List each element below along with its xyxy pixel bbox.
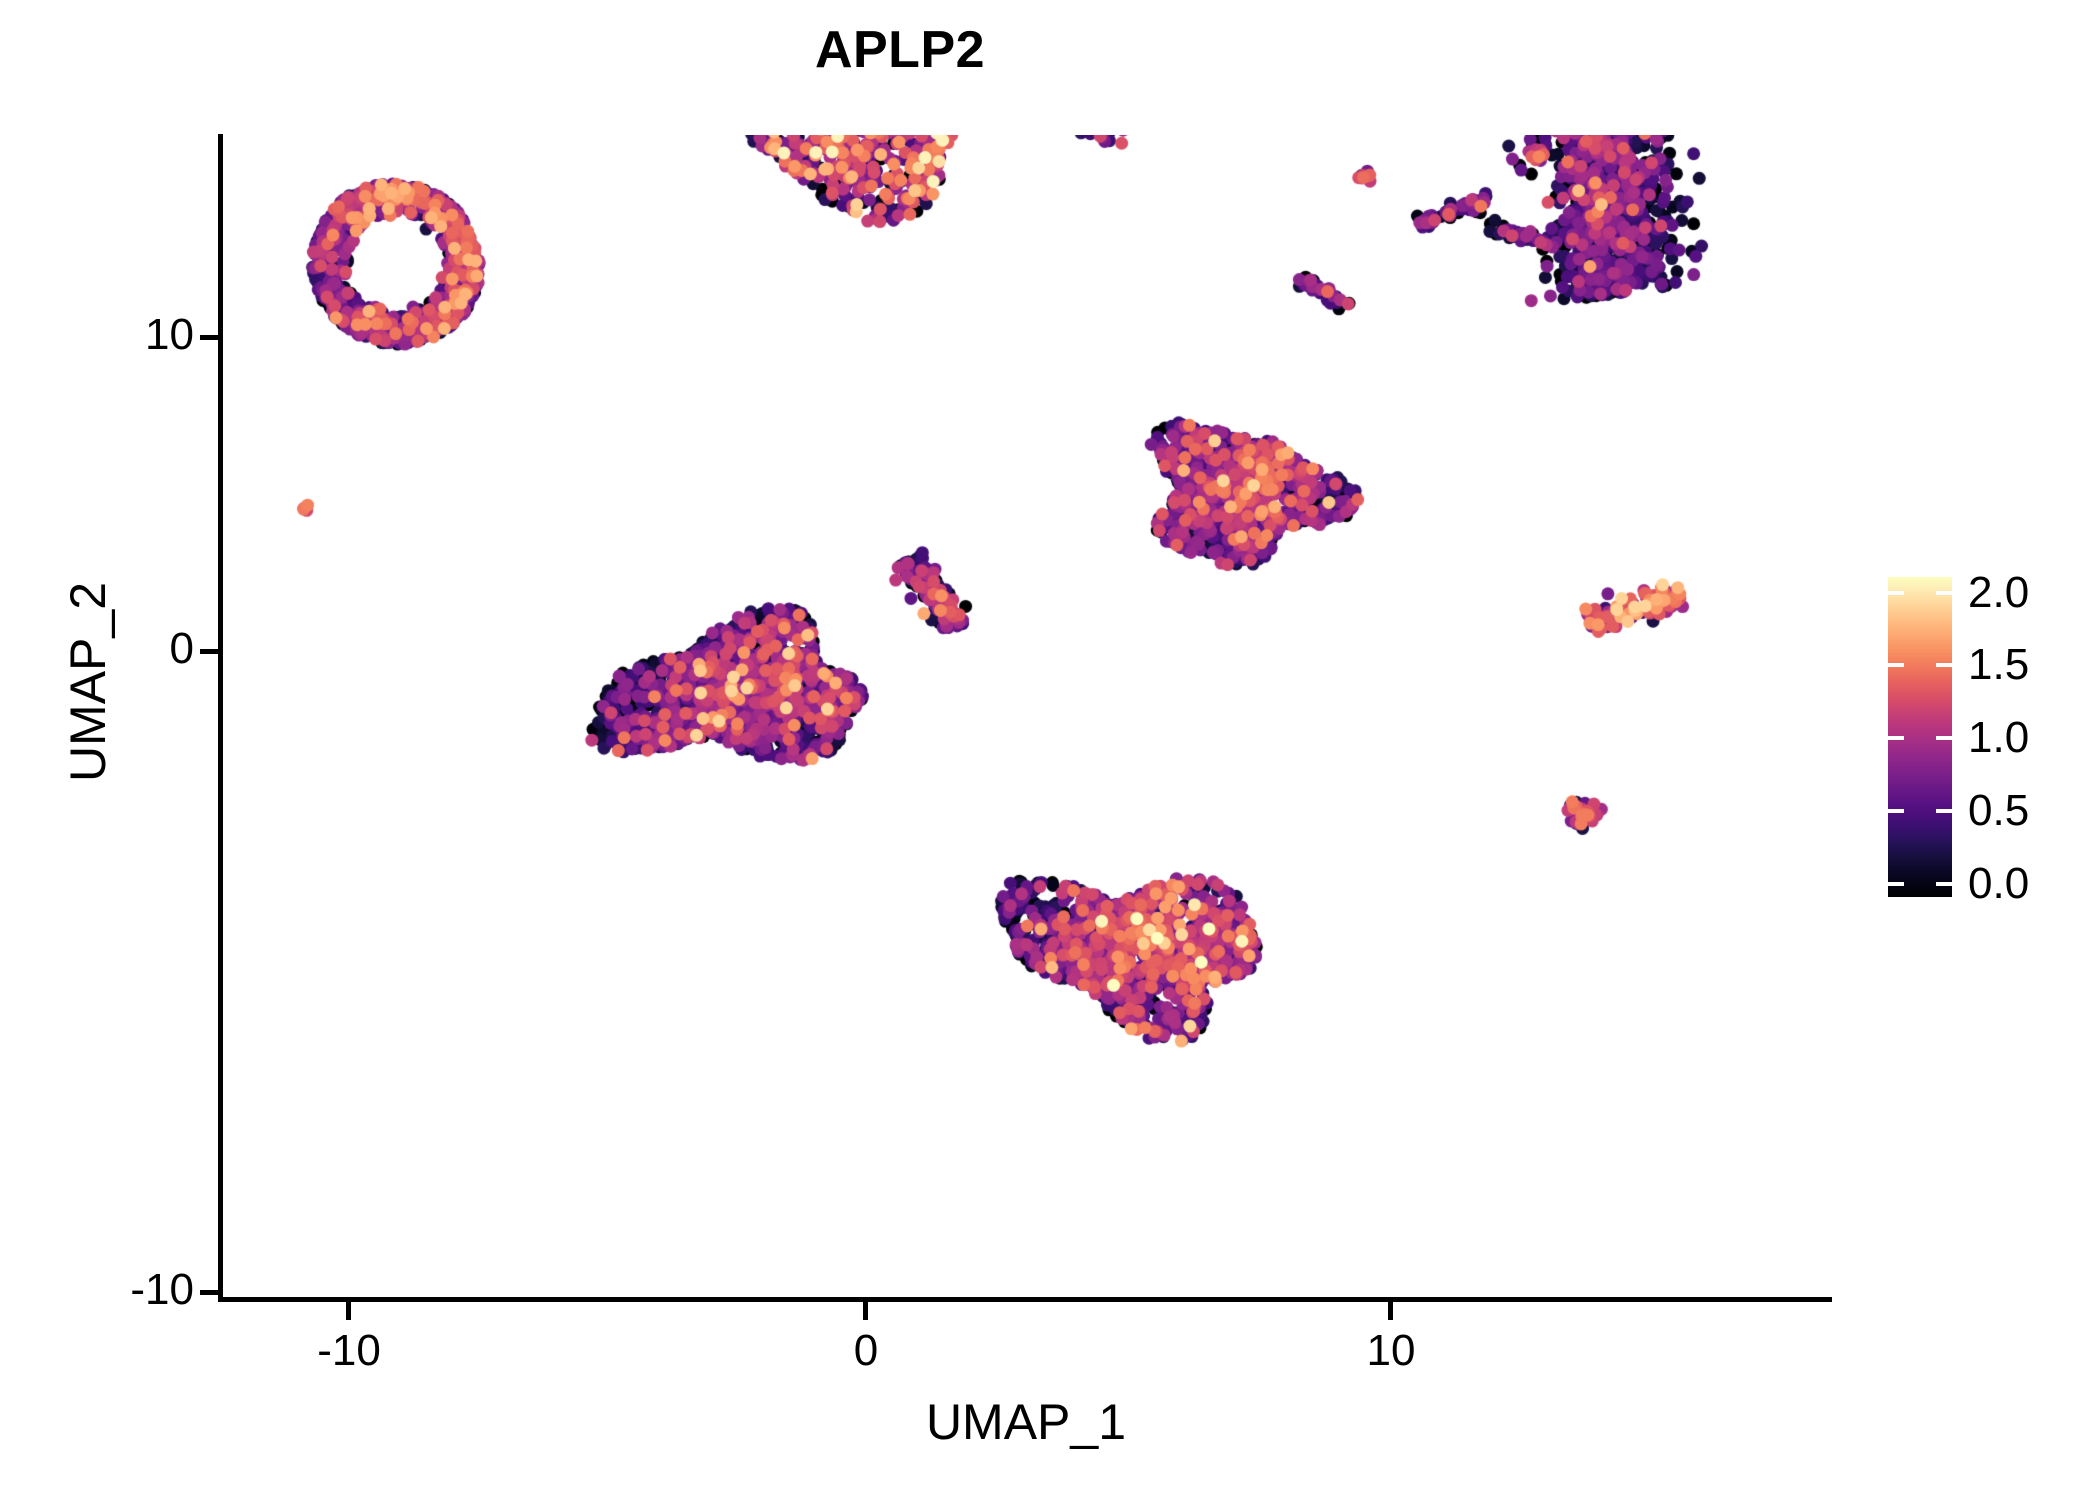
y-axis-title: UMAP_2 [59, 372, 117, 992]
x-axis-tick-label: 10 [1266, 1326, 1516, 1376]
y-axis-tick-label: 10 [145, 310, 194, 360]
y-axis-line [218, 134, 223, 1302]
y-axis-tick-mark [200, 1290, 218, 1295]
colorbar-tick-mark [1888, 736, 1904, 740]
colorbar-tick-mark [1936, 882, 1952, 886]
umap-feature-plot: APLP2 10 0 -10 -10 0 10 UMAP_2 UMAP_1 2.… [0, 0, 2100, 1500]
colorbar-tick-mark [1888, 882, 1904, 886]
colorbar-tick-label: 2.0 [1968, 568, 2029, 618]
x-axis-tick-mark [1388, 1302, 1393, 1320]
scatter-plot-canvas [220, 135, 1830, 1301]
plot-panel [220, 135, 1830, 1301]
colorbar-tick-label: 0.0 [1968, 859, 2029, 909]
colorbar-tick-label: 0.5 [1968, 786, 2029, 836]
x-axis-title: UMAP_1 [220, 1393, 1832, 1451]
x-axis-tick-label: 0 [741, 1326, 991, 1376]
colorbar-tick-mark [1936, 591, 1952, 595]
colorbar-gradient [1888, 577, 1952, 897]
page-title: APLP2 [0, 22, 1800, 79]
x-axis-tick-mark [863, 1302, 868, 1320]
colorbar-tick-mark [1936, 809, 1952, 813]
y-axis-tick-mark [200, 335, 218, 340]
x-axis-line [218, 1297, 1832, 1302]
x-axis-tick-label: -10 [224, 1326, 474, 1376]
colorbar-tick-mark [1888, 809, 1904, 813]
y-axis-tick-label: -10 [130, 1265, 194, 1315]
y-axis-tick-label: 0 [170, 624, 194, 674]
x-axis-tick-mark [346, 1302, 351, 1320]
colorbar-tick-mark [1936, 663, 1952, 667]
colorbar-tick-mark [1888, 663, 1904, 667]
colorbar-tick-label: 1.5 [1968, 640, 2029, 690]
colorbar-tick-mark [1936, 736, 1952, 740]
y-axis-tick-mark [200, 649, 218, 654]
colorbar-tick-label: 1.0 [1968, 713, 2029, 763]
colorbar-tick-mark [1888, 591, 1904, 595]
colorbar-legend: 2.0 1.5 1.0 0.5 0.0 [1888, 577, 2078, 899]
